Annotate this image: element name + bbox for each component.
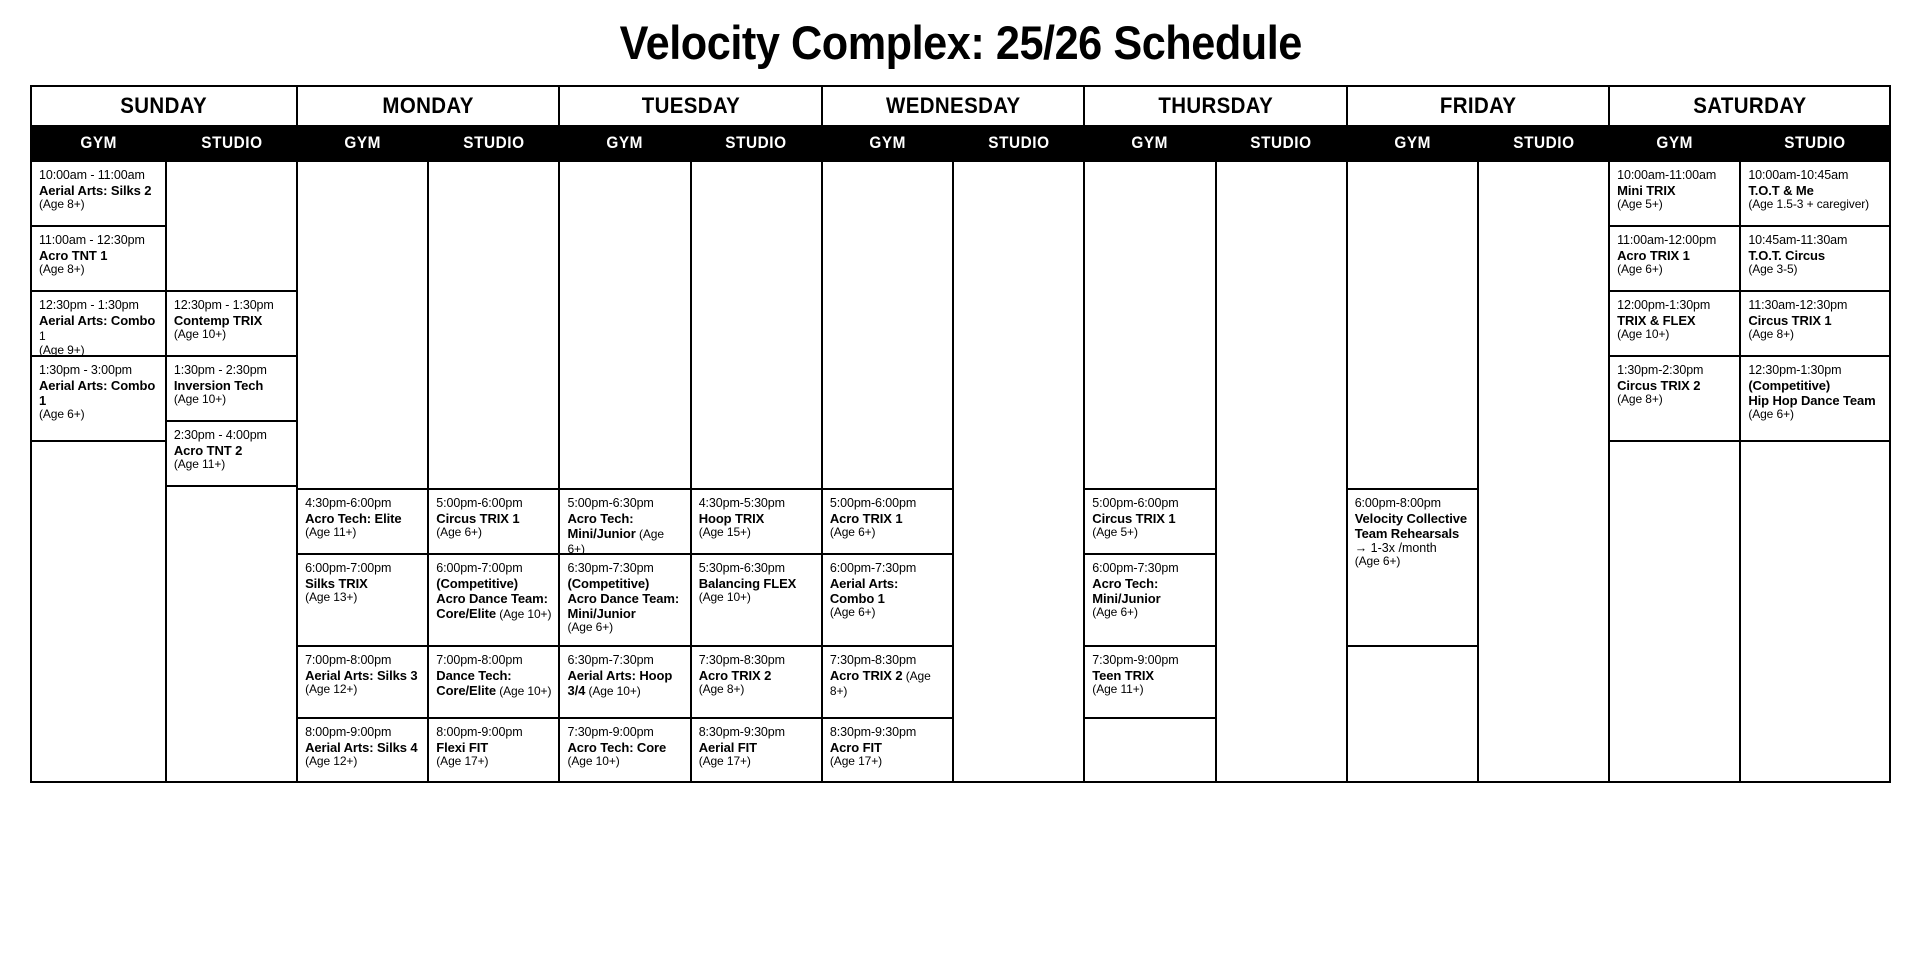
class-name-line2: Hip Hop Dance Team — [1748, 393, 1882, 408]
class-age: (Age 15+) — [699, 526, 814, 540]
class-age: (Age 11+) — [1092, 683, 1207, 697]
class-cell[interactable]: 5:00pm-6:00pmCircus TRIX 1(Age 6+) — [429, 490, 558, 555]
class-time: 1:30pm - 2:30pm — [174, 363, 289, 378]
class-cell[interactable]: 7:00pm-8:00pmDance Tech:Core/Elite (Age … — [429, 647, 558, 719]
class-name: T.O.T. Circus — [1748, 248, 1882, 263]
class-age: (Age 8+) — [699, 683, 814, 697]
class-cell[interactable]: 7:30pm-8:30pmAcro TRIX 2(Age 8+) — [692, 647, 821, 719]
class-cell[interactable]: 12:30pm - 1:30pmContemp TRIX(Age 10+) — [167, 292, 296, 357]
class-name: Teen TRIX — [1092, 668, 1207, 683]
class-age: (Age 17+) — [830, 755, 945, 769]
class-name-line2: Acro Dance Team: — [567, 591, 682, 606]
class-time: 7:30pm-8:30pm — [830, 653, 945, 668]
class-time: 8:30pm-9:30pm — [699, 725, 814, 740]
class-name: Acro Tech: Elite — [305, 511, 420, 526]
class-time: 10:45am-11:30am — [1748, 233, 1882, 248]
class-name: Acro TNT 1 — [39, 248, 158, 263]
class-name: Acro TRIX 1 — [830, 511, 945, 526]
class-age: (Age 6+) — [39, 408, 158, 422]
class-name-line2: Core/Elite (Age 10+) — [436, 683, 551, 699]
class-age: (Age 10+) — [174, 328, 289, 342]
class-time: 8:00pm-9:00pm — [305, 725, 420, 740]
class-age: (Age 5+) — [1617, 198, 1732, 212]
room-header-monday-gym: GYM — [297, 126, 428, 161]
schedule-table: SUNDAY MONDAY TUESDAY WEDNESDAY THURSDAY… — [30, 85, 1891, 783]
class-cell[interactable]: 6:00pm-7:00pmSilks TRIX(Age 13+) — [298, 555, 427, 647]
class-name: Acro Tech: — [1092, 576, 1207, 591]
empty-cell — [954, 162, 1083, 175]
empty-cell — [560, 162, 689, 490]
class-name: Aerial Arts: Silks 4 — [305, 740, 420, 755]
class-time: 12:30pm-1:30pm — [1748, 363, 1882, 378]
class-time: 6:30pm-7:30pm — [567, 561, 682, 576]
empty-cell — [1348, 647, 1477, 660]
column-wednesday-gym: 5:00pm-6:00pmAcro TRIX 1(Age 6+)6:00pm-7… — [822, 161, 953, 782]
class-name-line3: Core/Elite (Age 10+) — [436, 606, 551, 622]
class-name: Flexi FIT — [436, 740, 551, 755]
class-age: (Age 6+) — [1092, 606, 1207, 620]
class-name: Mini TRIX — [1617, 183, 1732, 198]
empty-cell — [1348, 162, 1477, 490]
class-age: (Age 8+) — [39, 198, 158, 212]
class-cell[interactable]: 10:00am-11:00amMini TRIX(Age 5+) — [1610, 162, 1739, 227]
column-wednesday-studio — [953, 161, 1084, 782]
class-cell[interactable]: 6:30pm-7:30pmAerial Arts: Hoop3/4 (Age 1… — [560, 647, 689, 719]
class-name: (Competitive) — [436, 576, 551, 591]
title-bar: Velocity Complex: 25/26 Schedule — [30, 0, 1891, 85]
empty-cell — [167, 162, 296, 292]
class-age: (Age 10+) — [567, 755, 682, 769]
column-thursday-gym: 5:00pm-6:00pmCircus TRIX 1(Age 5+)6:00pm… — [1084, 161, 1215, 782]
class-cell[interactable]: 6:30pm-7:30pm(Competitive)Acro Dance Tea… — [560, 555, 689, 647]
column-saturday-gym: 10:00am-11:00amMini TRIX(Age 5+)11:00am-… — [1609, 161, 1740, 782]
room-header-thursday-gym: GYM — [1084, 126, 1215, 161]
class-age: (Age 6+) — [1355, 555, 1470, 569]
day-header-saturday: SATURDAY — [1609, 86, 1890, 126]
class-time: 7:30pm-9:00pm — [1092, 653, 1207, 668]
class-time: 5:00pm-6:30pm — [567, 496, 682, 511]
empty-cell — [1479, 162, 1608, 175]
class-time: 7:30pm-8:30pm — [699, 653, 814, 668]
class-age: (Age 6+) — [1617, 263, 1732, 277]
room-header-wednesday-studio: STUDIO — [953, 126, 1084, 161]
class-cell[interactable]: 4:30pm-6:00pmAcro Tech: Elite(Age 11+) — [298, 490, 427, 555]
class-cell[interactable]: 6:00pm-7:00pm(Competitive)Acro Dance Tea… — [429, 555, 558, 647]
class-name-line2: Mini/Junior (Age 6+) — [567, 526, 682, 555]
empty-cell — [429, 162, 558, 490]
column-sunday-studio: 12:30pm - 1:30pmContemp TRIX(Age 10+)1:3… — [166, 161, 297, 782]
class-time: 11:00am-12:00pm — [1617, 233, 1732, 248]
room-header-thursday-studio: STUDIO — [1216, 126, 1347, 161]
column-tuesday-gym: 5:00pm-6:30pmAcro Tech:Mini/Junior (Age … — [559, 161, 690, 782]
class-name-line2: Acro Dance Team: — [436, 591, 551, 606]
class-time: 5:00pm-6:00pm — [436, 496, 551, 511]
class-name-line3: Mini/Junior — [567, 606, 682, 621]
class-age: (Age 12+) — [305, 683, 420, 697]
room-header-row: GYM STUDIO GYM STUDIO GYM STUDIO GYM STU… — [31, 126, 1890, 161]
column-tuesday-studio: 4:30pm-5:30pmHoop TRIX(Age 15+)5:30pm-6:… — [691, 161, 822, 782]
class-cell[interactable]: 4:30pm-5:30pmHoop TRIX(Age 15+) — [692, 490, 821, 555]
room-header-sunday-studio: STUDIO — [166, 126, 297, 161]
class-time: 1:30pm-2:30pm — [1617, 363, 1732, 378]
class-time: 7:00pm-8:00pm — [305, 653, 420, 668]
class-name: Hoop TRIX — [699, 511, 814, 526]
room-header-saturday-gym: GYM — [1609, 126, 1740, 161]
class-age: (Age 11+) — [174, 458, 289, 472]
class-name: Velocity Collective — [1355, 511, 1470, 526]
class-name: (Competitive) — [567, 576, 682, 591]
room-header-friday-studio: STUDIO — [1478, 126, 1609, 161]
room-header-wednesday-gym: GYM — [822, 126, 953, 161]
class-age: (Age 10+) — [174, 393, 289, 407]
day-header-tuesday: TUESDAY — [559, 86, 821, 126]
class-cell[interactable]: 8:00pm-9:00pmFlexi FIT(Age 17+) — [429, 719, 558, 781]
class-cell[interactable]: 10:00am-10:45amT.O.T & Me(Age 1.5-3 + ca… — [1741, 162, 1889, 227]
class-name: Circus TRIX 1 — [436, 511, 551, 526]
class-cell[interactable]: 2:30pm - 4:00pmAcro TNT 2(Age 11+) — [167, 422, 296, 487]
class-cell[interactable]: 8:30pm-9:30pmAerial FIT(Age 17+) — [692, 719, 821, 781]
class-name: Aerial Arts: Hoop — [567, 668, 682, 683]
class-time: 4:30pm-5:30pm — [699, 496, 814, 511]
class-name-line2: Team Rehearsals — [1355, 526, 1470, 541]
class-age: (Age 6+) — [830, 606, 945, 620]
class-name: Contemp TRIX — [174, 313, 289, 328]
class-name: T.O.T & Me — [1748, 183, 1882, 198]
class-cell[interactable]: 1:30pm - 3:00pmAerial Arts: Combo 1(Age … — [32, 357, 165, 442]
column-thursday-studio — [1216, 161, 1347, 782]
class-cell[interactable]: 12:00pm-1:30pmTRIX & FLEX(Age 10+) — [1610, 292, 1739, 357]
column-monday-gym: 4:30pm-6:00pmAcro Tech: Elite(Age 11+)6:… — [297, 161, 428, 782]
class-time: 5:00pm-6:00pm — [830, 496, 945, 511]
class-cell[interactable]: 1:30pm - 2:30pmInversion Tech(Age 10+) — [167, 357, 296, 422]
class-name: Inversion Tech — [174, 378, 289, 393]
class-age: (Age 3-5) — [1748, 263, 1882, 277]
room-header-monday-studio: STUDIO — [428, 126, 559, 161]
class-name-line2: Mini/Junior — [1092, 591, 1207, 606]
class-time: 10:00am-11:00am — [1617, 168, 1732, 183]
schedule-body-row: 10:00am - 11:00amAerial Arts: Silks 2(Ag… — [31, 161, 1890, 782]
column-monday-studio: 5:00pm-6:00pmCircus TRIX 1(Age 6+)6:00pm… — [428, 161, 559, 782]
class-name: Acro TRIX 1 — [1617, 248, 1732, 263]
empty-cell — [298, 162, 427, 490]
class-time: 11:30am-12:30pm — [1748, 298, 1882, 313]
room-header-sunday-gym: GYM — [31, 126, 166, 161]
room-header-friday-gym: GYM — [1347, 126, 1478, 161]
class-time: 12:30pm - 1:30pm — [174, 298, 289, 313]
class-name: (Competitive) — [1748, 378, 1882, 393]
class-name: Silks TRIX — [305, 576, 420, 591]
day-header-row: SUNDAY MONDAY TUESDAY WEDNESDAY THURSDAY… — [31, 86, 1890, 126]
day-header-sunday: SUNDAY — [31, 86, 297, 126]
class-age: (Age 17+) — [436, 755, 551, 769]
class-name: Circus TRIX 1 — [1748, 313, 1882, 328]
class-time: 6:00pm-7:00pm — [436, 561, 551, 576]
class-name: Acro Tech: Core — [567, 740, 682, 755]
class-name: Aerial Arts: Silks 2 — [39, 183, 158, 198]
class-cell[interactable]: 6:00pm-7:30pmAerial Arts: Combo 1(Age 6+… — [823, 555, 952, 647]
class-name: Dance Tech: — [436, 668, 551, 683]
class-age: (Age 6+) — [830, 526, 945, 540]
column-saturday-studio: 10:00am-10:45amT.O.T & Me(Age 1.5-3 + ca… — [1740, 161, 1890, 782]
class-note: → 1-3x /month — [1355, 541, 1470, 556]
class-time: 5:00pm-6:00pm — [1092, 496, 1207, 511]
class-time: 2:30pm - 4:00pm — [174, 428, 289, 443]
empty-cell — [1085, 719, 1214, 732]
class-time: 6:00pm-8:00pm — [1355, 496, 1470, 511]
class-name: Circus TRIX 1 — [1092, 511, 1207, 526]
class-name: Aerial Arts: Combo 1 — [39, 378, 158, 408]
class-age: (Age 10+) — [699, 591, 814, 605]
class-name: Circus TRIX 2 — [1617, 378, 1732, 393]
class-name: TRIX & FLEX — [1617, 313, 1732, 328]
empty-cell — [1085, 162, 1214, 490]
class-name: Balancing FLEX — [699, 576, 814, 591]
class-name-line2: 3/4 (Age 10+) — [567, 683, 682, 699]
class-time: 10:00am - 11:00am — [39, 168, 158, 183]
room-header-saturday-studio: STUDIO — [1740, 126, 1890, 161]
day-header-wednesday: WEDNESDAY — [822, 86, 1084, 126]
class-time: 12:30pm - 1:30pm — [39, 298, 158, 313]
class-age: (Age 6+) — [1748, 408, 1882, 422]
class-age: (Age 6+) — [567, 621, 682, 635]
column-sunday-gym: 10:00am - 11:00amAerial Arts: Silks 2(Ag… — [31, 161, 166, 782]
class-time: 1:30pm - 3:00pm — [39, 363, 158, 378]
class-name: Aerial Arts: Combo 1 — [830, 576, 945, 606]
class-time: 12:00pm-1:30pm — [1617, 298, 1732, 313]
class-time: 11:00am - 12:30pm — [39, 233, 158, 248]
class-age: (Age 13+) — [305, 591, 420, 605]
class-age: (Age 6+) — [436, 526, 551, 540]
class-name: Acro FIT — [830, 740, 945, 755]
class-time: 10:00am-10:45am — [1748, 168, 1882, 183]
class-cell[interactable]: 6:00pm-8:00pmVelocity CollectiveTeam Reh… — [1348, 490, 1477, 647]
class-cell[interactable]: 7:30pm-9:00pmAcro Tech: Core(Age 10+) — [560, 719, 689, 781]
class-cell[interactable]: 10:45am-11:30amT.O.T. Circus(Age 3-5) — [1741, 227, 1889, 292]
class-time: 7:00pm-8:00pm — [436, 653, 551, 668]
day-header-monday: MONDAY — [297, 86, 559, 126]
class-cell[interactable]: 11:30am-12:30pmCircus TRIX 1(Age 8+) — [1741, 292, 1889, 357]
empty-cell — [823, 162, 952, 490]
class-age: (Age 17+) — [699, 755, 814, 769]
class-age: (Age 5+) — [1092, 526, 1207, 540]
class-age: (Age 8+) — [1617, 393, 1732, 407]
class-cell[interactable]: 12:30pm - 1:30pmAerial Arts: Combo 1(Age… — [32, 292, 165, 357]
class-cell[interactable]: 10:00am - 11:00amAerial Arts: Silks 2(Ag… — [32, 162, 165, 227]
class-time: 8:30pm-9:30pm — [830, 725, 945, 740]
class-time: 6:30pm-7:30pm — [567, 653, 682, 668]
class-cell[interactable]: 7:00pm-8:00pmAerial Arts: Silks 3(Age 12… — [298, 647, 427, 719]
class-cell[interactable]: 8:00pm-9:00pmAerial Arts: Silks 4(Age 12… — [298, 719, 427, 781]
empty-cell — [1217, 162, 1346, 175]
class-cell[interactable]: 12:30pm-1:30pm(Competitive)Hip Hop Dance… — [1741, 357, 1889, 442]
class-time: 8:00pm-9:00pm — [436, 725, 551, 740]
class-age: (Age 11+) — [305, 526, 420, 540]
class-cell[interactable]: 11:00am-12:00pmAcro TRIX 1(Age 6+) — [1610, 227, 1739, 292]
class-name: Acro TRIX 2 — [699, 668, 814, 683]
class-time: 6:00pm-7:30pm — [1092, 561, 1207, 576]
class-age: (Age 1.5-3 + caregiver) — [1748, 198, 1882, 212]
class-cell[interactable]: 7:30pm-8:30pmAcro TRIX 2 (Age 8+) — [823, 647, 952, 719]
class-cell[interactable]: 11:00am - 12:30pmAcro TNT 1(Age 8+) — [32, 227, 165, 292]
class-cell[interactable]: 5:00pm-6:00pmCircus TRIX 1(Age 5+) — [1085, 490, 1214, 555]
empty-cell — [167, 487, 296, 500]
column-friday-gym: 6:00pm-8:00pmVelocity CollectiveTeam Reh… — [1347, 161, 1478, 782]
class-cell[interactable]: 1:30pm-2:30pmCircus TRIX 2(Age 8+) — [1610, 357, 1739, 442]
empty-cell — [1610, 442, 1739, 455]
class-name: Aerial Arts: Combo 1 — [39, 313, 158, 345]
class-name: Acro TRIX 2 (Age 8+) — [830, 668, 945, 700]
room-header-tuesday-studio: STUDIO — [691, 126, 822, 161]
class-time: 5:30pm-6:30pm — [699, 561, 814, 576]
empty-cell — [692, 162, 821, 490]
class-name: Aerial Arts: Silks 3 — [305, 668, 420, 683]
class-name: Acro TNT 2 — [174, 443, 289, 458]
empty-cell — [1741, 442, 1889, 455]
class-age: (Age 10+) — [1617, 328, 1732, 342]
day-header-thursday: THURSDAY — [1084, 86, 1346, 126]
class-name: Aerial FIT — [699, 740, 814, 755]
class-age: (Age 8+) — [39, 263, 158, 277]
class-age: (Age 12+) — [305, 755, 420, 769]
schedule-page: Velocity Complex: 25/26 Schedule SUNDAY … — [0, 0, 1919, 973]
column-friday-studio — [1478, 161, 1609, 782]
day-header-friday: FRIDAY — [1347, 86, 1609, 126]
class-cell[interactable]: 5:00pm-6:30pmAcro Tech:Mini/Junior (Age … — [560, 490, 689, 555]
room-header-tuesday-gym: GYM — [559, 126, 690, 161]
class-age: (Age 8+) — [1748, 328, 1882, 342]
class-cell[interactable]: 7:30pm-9:00pmTeen TRIX(Age 11+) — [1085, 647, 1214, 719]
class-time: 6:00pm-7:00pm — [305, 561, 420, 576]
class-time: 7:30pm-9:00pm — [567, 725, 682, 740]
class-cell[interactable]: 5:30pm-6:30pmBalancing FLEX(Age 10+) — [692, 555, 821, 647]
class-age: (Age 9+) — [39, 344, 158, 357]
page-title: Velocity Complex: 25/26 Schedule — [619, 15, 1301, 70]
class-cell[interactable]: 5:00pm-6:00pmAcro TRIX 1(Age 6+) — [823, 490, 952, 555]
class-time: 6:00pm-7:30pm — [830, 561, 945, 576]
empty-cell — [32, 442, 165, 455]
class-time: 4:30pm-6:00pm — [305, 496, 420, 511]
class-cell[interactable]: 6:00pm-7:30pmAcro Tech:Mini/Junior(Age 6… — [1085, 555, 1214, 647]
class-name: Acro Tech: — [567, 511, 682, 526]
class-cell[interactable]: 8:30pm-9:30pmAcro FIT(Age 17+) — [823, 719, 952, 781]
